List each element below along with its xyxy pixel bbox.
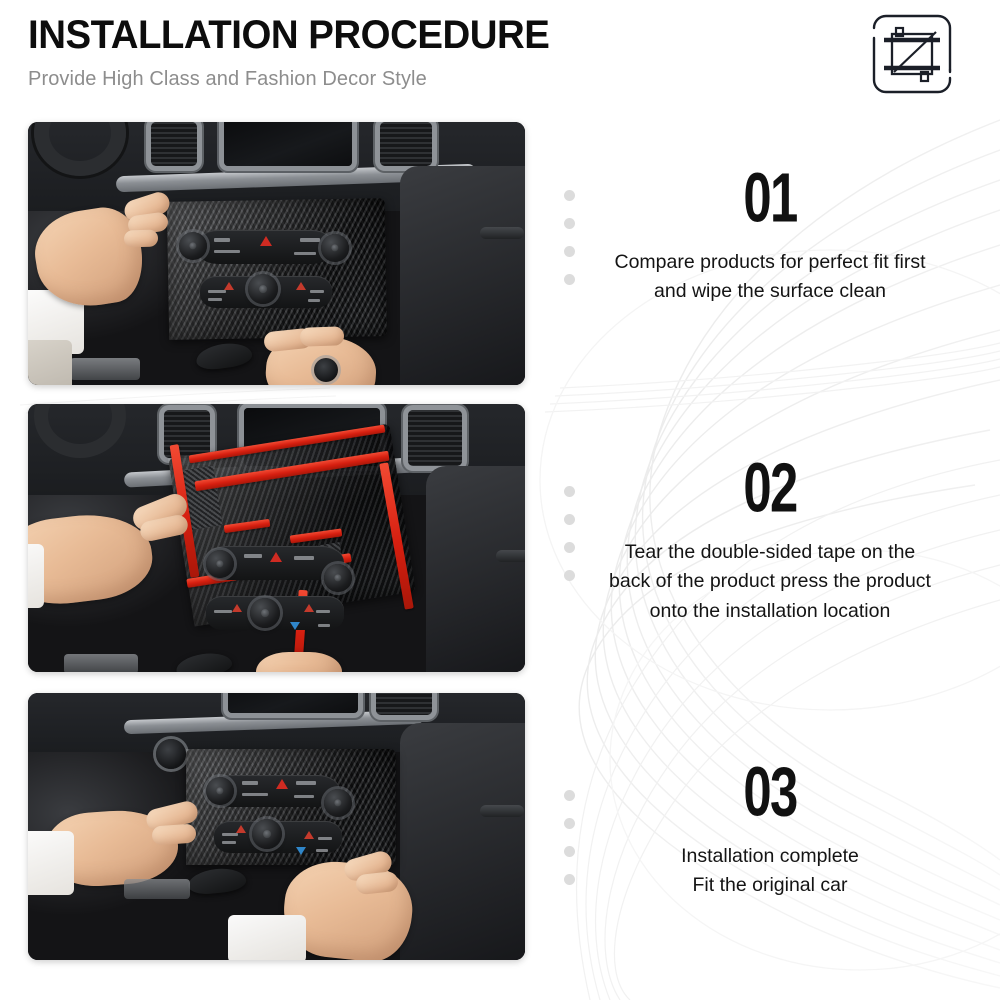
- step-02-description: Tear the double-sided tape on the back o…: [560, 538, 980, 626]
- installation-procedure-page: INSTALLATION PROCEDURE Provide High Clas…: [0, 0, 1000, 1000]
- page-title: INSTALLATION PROCEDURE: [28, 14, 549, 56]
- step-01-number: 01: [598, 164, 942, 233]
- step-03-description-line: Installation complete: [560, 842, 980, 871]
- step-02-description-line: Tear the double-sided tape on the: [560, 538, 980, 567]
- step-02-text: 02 Tear the double-sided tape on the bac…: [560, 458, 980, 626]
- step-01-description-line: and wipe the surface clean: [560, 277, 980, 306]
- step-03-photo: [28, 693, 525, 960]
- step-03-text: 03 Installation complete Fit the origina…: [560, 762, 980, 901]
- step-02-description-line: onto the installation location: [560, 597, 980, 626]
- step-02-photo: [28, 404, 525, 672]
- step-01-description: Compare products for perfect fit first a…: [560, 248, 980, 307]
- step-01-text: 01 Compare products for perfect fit firs…: [560, 168, 980, 307]
- step-01-photo: [28, 122, 525, 385]
- page-header: INSTALLATION PROCEDURE Provide High Clas…: [28, 14, 571, 91]
- step-03-description: Installation complete Fit the original c…: [560, 842, 980, 901]
- step-01-description-line: Compare products for perfect fit first: [560, 248, 980, 277]
- step-02-description-line: back of the product press the product: [560, 567, 980, 596]
- step-02-number: 02: [598, 454, 942, 523]
- page-subtitle: Provide High Class and Fashion Decor Sty…: [28, 68, 571, 91]
- step-03-description-line: Fit the original car: [560, 871, 980, 900]
- crop-icon: [866, 8, 958, 100]
- steps-container: 01 Compare products for perfect fit firs…: [0, 0, 1000, 1000]
- step-03-number: 03: [598, 758, 942, 827]
